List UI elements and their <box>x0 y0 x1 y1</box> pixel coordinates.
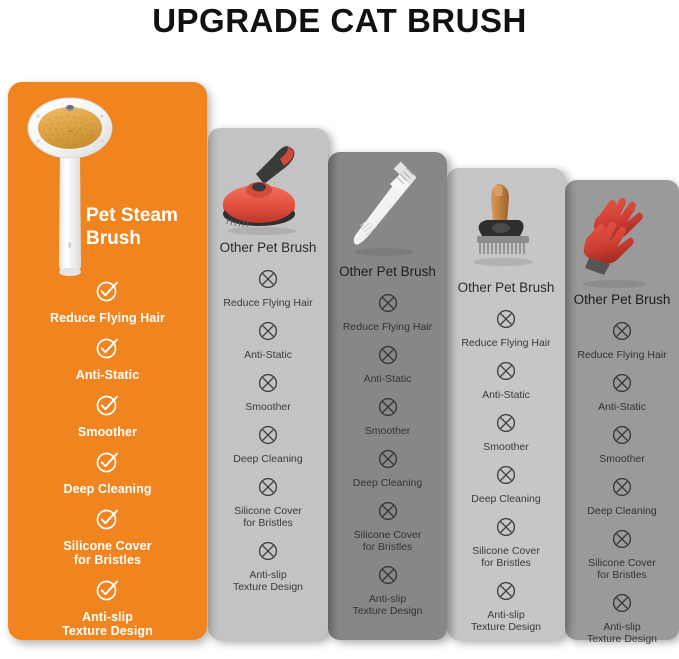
check-icon <box>8 278 207 308</box>
competitor-feature-label: Smoother <box>565 453 679 465</box>
competitor-feature-item: Anti-Static <box>328 344 447 385</box>
competitor-feature-item: Reduce Flying Hair <box>208 268 328 309</box>
check-icon <box>8 335 207 365</box>
competitor-feature-item: Deep Cleaning <box>208 424 328 465</box>
competitor-feature-label-line2: Texture Design <box>565 633 679 645</box>
competitor-feature-label: Smoother <box>208 401 328 413</box>
hero-feature-label: Anti-slip Texture Design <box>8 610 207 638</box>
competitor-feature-label: Anti-slip Texture Design <box>565 621 679 645</box>
competitor-feature-label-line1: Anti-slip <box>565 621 679 633</box>
competitor-feature-label: Anti-Static <box>328 373 447 385</box>
competitor-feature-label-line2: Texture Design <box>208 581 328 593</box>
competitor-name: Other Pet Brush <box>565 292 679 307</box>
hero-feature-label-line1: Silicone Cover <box>8 539 207 553</box>
competitor-feature-item: Smoother <box>565 424 679 465</box>
competitor-feature-label-line1: Silicone Cover <box>447 545 565 557</box>
x-icon <box>328 448 447 475</box>
competitor-feature-list: Reduce Flying Hair Anti-Static Smoother … <box>208 268 328 604</box>
x-icon <box>208 540 328 567</box>
white-grooming-comb-icon <box>328 160 447 264</box>
competitor-feature-list: Reduce Flying Hair Anti-Static Smoother … <box>565 320 679 656</box>
competitor-feature-label: Reduce Flying Hair <box>208 297 328 309</box>
competitor-feature-label-line1: Anti-slip <box>328 593 447 605</box>
competitor-column-3: Other Pet Brush Reduce Flying Hair Anti-… <box>447 168 565 640</box>
competitor-feature-item: Deep Cleaning <box>447 464 565 505</box>
x-icon <box>565 320 679 347</box>
competitor-feature-label-line1: Anti-slip <box>447 609 565 621</box>
competitor-feature-label: Anti-slip Texture Design <box>328 593 447 617</box>
competitor-feature-item: Deep Cleaning <box>565 476 679 517</box>
check-icon <box>8 506 207 536</box>
competitor-feature-label-line2: for Bristles <box>565 569 679 581</box>
competitor-feature-item: Reduce Flying Hair <box>328 292 447 333</box>
competitor-feature-item: Anti-slip Texture Design <box>208 540 328 593</box>
competitor-feature-label-line2: Texture Design <box>328 605 447 617</box>
x-icon <box>565 424 679 451</box>
competitor-feature-label: Silicone Cover for Bristles <box>565 557 679 581</box>
page-title: UPGRADE CAT BRUSH <box>0 2 679 40</box>
competitor-feature-item: Silicone Cover for Bristles <box>208 476 328 529</box>
competitor-feature-label-line2: for Bristles <box>328 541 447 553</box>
competitor-feature-item: Anti-slip Texture Design <box>328 564 447 617</box>
hero-feature-list: Reduce Flying Hair Anti-Static <box>8 278 207 648</box>
competitor-feature-label: Reduce Flying Hair <box>447 337 565 349</box>
competitor-feature-item: Smoother <box>447 412 565 453</box>
competitor-feature-item: Anti-Static <box>447 360 565 401</box>
hero-feature-label: Deep Cleaning <box>8 482 207 496</box>
hero-feature-item: Silicone Cover for Bristles <box>8 506 207 567</box>
competitor-feature-item: Anti-slip Texture Design <box>447 580 565 633</box>
hero-product-name: Pet Steam Brush <box>86 204 204 250</box>
hero-feature-label-line1: Anti-slip <box>8 610 207 624</box>
competitor-feature-item: Deep Cleaning <box>328 448 447 489</box>
competitor-feature-label: Deep Cleaning <box>208 453 328 465</box>
competitor-feature-label: Deep Cleaning <box>565 505 679 517</box>
competitor-feature-item: Reduce Flying Hair <box>447 308 565 349</box>
competitor-name: Other Pet Brush <box>328 264 447 279</box>
wooden-handle-dematting-rake-icon <box>447 176 565 280</box>
competitor-feature-label-line1: Silicone Cover <box>565 557 679 569</box>
competitor-feature-label: Reduce Flying Hair <box>328 321 447 333</box>
competitor-feature-label: Anti-slip Texture Design <box>447 609 565 633</box>
competitor-name: Other Pet Brush <box>208 240 328 255</box>
competitor-feature-item: Silicone Cover for Bristles <box>447 516 565 569</box>
x-icon <box>328 344 447 371</box>
competitor-feature-item: Anti-slip Texture Design <box>565 592 679 645</box>
x-icon <box>208 268 328 295</box>
hero-feature-item: Anti-Static <box>8 335 207 382</box>
x-icon <box>447 360 565 387</box>
x-icon <box>208 424 328 451</box>
competitor-feature-label-line2: for Bristles <box>208 517 328 529</box>
competitor-feature-label-line1: Silicone Cover <box>328 529 447 541</box>
x-icon <box>328 564 447 591</box>
hero-feature-item: Smoother <box>8 392 207 439</box>
check-icon <box>8 392 207 422</box>
competitor-feature-list: Reduce Flying Hair Anti-Static Smoother … <box>447 308 565 644</box>
competitor-feature-label: Deep Cleaning <box>447 493 565 505</box>
competitor-feature-item: Silicone Cover for Bristles <box>328 500 447 553</box>
hero-feature-item: Reduce Flying Hair <box>8 278 207 325</box>
x-icon <box>328 292 447 319</box>
hero-feature-label: Silicone Cover for Bristles <box>8 539 207 567</box>
hero-feature-label: Smoother <box>8 425 207 439</box>
x-icon <box>565 528 679 555</box>
product-column-pet-steam-brush: Pet Steam Brush Reduce Flying Hair <box>8 82 207 640</box>
competitor-feature-label: Deep Cleaning <box>328 477 447 489</box>
x-icon <box>565 372 679 399</box>
competitor-feature-label: Reduce Flying Hair <box>565 349 679 361</box>
competitor-feature-item: Smoother <box>208 372 328 413</box>
x-icon <box>328 396 447 423</box>
hero-feature-item: Deep Cleaning <box>8 449 207 496</box>
x-icon <box>565 592 679 619</box>
hero-feature-item: Anti-slip Texture Design <box>8 577 207 638</box>
competitor-feature-label: Anti-slip Texture Design <box>208 569 328 593</box>
x-icon <box>447 516 565 543</box>
x-icon <box>208 320 328 347</box>
competitor-column-1: Other Pet Brush Reduce Flying Hair Anti-… <box>208 128 328 640</box>
x-icon <box>565 476 679 503</box>
red-grooming-gloves-icon <box>565 188 679 292</box>
x-icon <box>447 308 565 335</box>
comparison-infographic: UPGRADE CAT BRUSH <box>0 0 679 659</box>
competitor-feature-label: Anti-Static <box>565 401 679 413</box>
competitor-feature-list: Reduce Flying Hair Anti-Static Smoother … <box>328 292 447 628</box>
red-slicker-brush-icon <box>208 136 328 240</box>
competitor-feature-label: Silicone Cover for Bristles <box>208 505 328 529</box>
hero-product-name-line1: Pet Steam <box>86 204 204 227</box>
competitor-feature-label: Anti-Static <box>208 349 328 361</box>
competitor-feature-item: Anti-Static <box>565 372 679 413</box>
competitor-feature-label: Silicone Cover for Bristles <box>447 545 565 569</box>
competitor-feature-item: Silicone Cover for Bristles <box>565 528 679 581</box>
competitor-feature-label: Smoother <box>328 425 447 437</box>
x-icon <box>328 500 447 527</box>
check-icon <box>8 577 207 607</box>
competitor-feature-label: Anti-Static <box>447 389 565 401</box>
competitor-name: Other Pet Brush <box>447 280 565 295</box>
competitor-column-4: Other Pet Brush Reduce Flying Hair Anti-… <box>565 180 679 640</box>
x-icon <box>447 580 565 607</box>
competitor-feature-label-line2: for Bristles <box>447 557 565 569</box>
competitor-feature-label-line1: Anti-slip <box>208 569 328 581</box>
competitor-feature-label: Silicone Cover for Bristles <box>328 529 447 553</box>
hero-product-name-line2: Brush <box>86 227 204 250</box>
hero-feature-label: Reduce Flying Hair <box>8 311 207 325</box>
competitor-feature-label-line1: Silicone Cover <box>208 505 328 517</box>
competitor-feature-item: Anti-Static <box>208 320 328 361</box>
hero-feature-label: Anti-Static <box>8 368 207 382</box>
steam-brush-product-icon <box>24 92 116 292</box>
x-icon <box>447 464 565 491</box>
competitor-column-2: Other Pet Brush Reduce Flying Hair Anti-… <box>328 152 447 640</box>
hero-feature-label-line2: for Bristles <box>8 553 207 567</box>
competitor-feature-item: Smoother <box>328 396 447 437</box>
x-icon <box>208 476 328 503</box>
competitor-feature-item: Reduce Flying Hair <box>565 320 679 361</box>
competitor-feature-label-line2: Texture Design <box>447 621 565 633</box>
x-icon <box>447 412 565 439</box>
competitor-feature-label: Smoother <box>447 441 565 453</box>
x-icon <box>208 372 328 399</box>
hero-feature-label-line2: Texture Design <box>8 624 207 638</box>
check-icon <box>8 449 207 479</box>
